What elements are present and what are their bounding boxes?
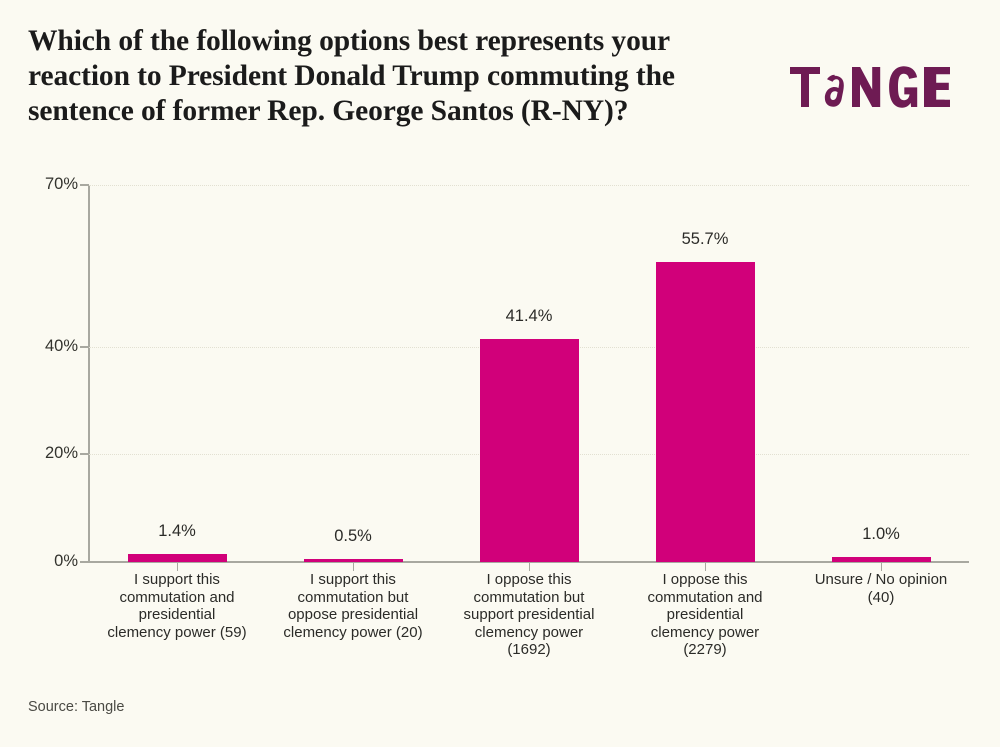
category-label-line: presidential [617,606,793,624]
x-tick-mark [705,563,706,571]
bar-value-label: 0.5% [283,527,423,546]
category-label-line: commutation and [89,589,265,607]
x-tick-mark [353,563,354,571]
category-label-line: I oppose this [441,571,617,589]
category-label-line: commutation but [265,589,441,607]
x-axis-category-label: I oppose thiscommutation butsupport pres… [441,571,617,659]
category-label-line: I oppose this [617,571,793,589]
x-axis-category-label: I support thiscommutation andpresidentia… [89,571,265,641]
bar [832,557,931,562]
category-label-line: clemency power [617,624,793,642]
y-tick-mark [80,184,89,186]
x-tick-mark [881,563,882,571]
bar [480,339,579,562]
y-tick-label: 0% [54,552,78,571]
y-tick-label: 20% [45,444,78,463]
category-label-line: (40) [793,589,969,607]
x-axis-category-label: Unsure / No opinion(40) [793,571,969,606]
category-label-line: (1692) [441,641,617,659]
y-tick-label: 40% [45,337,78,356]
source-note: Source: Tangle [28,699,124,715]
category-label-line: presidential [89,606,265,624]
category-label-line: commutation and [617,589,793,607]
bar-value-label: 41.4% [459,307,599,326]
bar-chart: 0%20%40%70% 1.4%I support thiscommutatio… [0,0,1000,747]
bar-value-label: 55.7% [635,230,775,249]
x-tick-mark [529,563,530,571]
bar [304,559,403,562]
category-label-line: commutation but [441,589,617,607]
category-label-line: clemency power (59) [89,624,265,642]
y-tick-label: 70% [45,175,78,194]
y-tick-mark [80,346,89,348]
bar [128,554,227,562]
category-label-line: (2279) [617,641,793,659]
bar-value-label: 1.0% [811,525,951,544]
x-tick-mark [177,563,178,571]
y-tick-mark [80,561,89,563]
x-axis-category-label: I oppose thiscommutation andpresidential… [617,571,793,659]
y-tick-mark [80,453,89,455]
category-label-line: support presidential [441,606,617,624]
category-label-line: I support this [265,571,441,589]
category-label-line: clemency power [441,624,617,642]
category-label-line: clemency power (20) [265,624,441,642]
category-label-line: I support this [89,571,265,589]
y-axis-line [88,185,90,563]
category-label-line: Unsure / No opinion [793,571,969,589]
category-label-line: oppose presidential [265,606,441,624]
bar [656,262,755,562]
gridline [89,185,969,186]
x-axis-category-label: I support thiscommutation butoppose pres… [265,571,441,641]
bar-value-label: 1.4% [107,522,247,541]
